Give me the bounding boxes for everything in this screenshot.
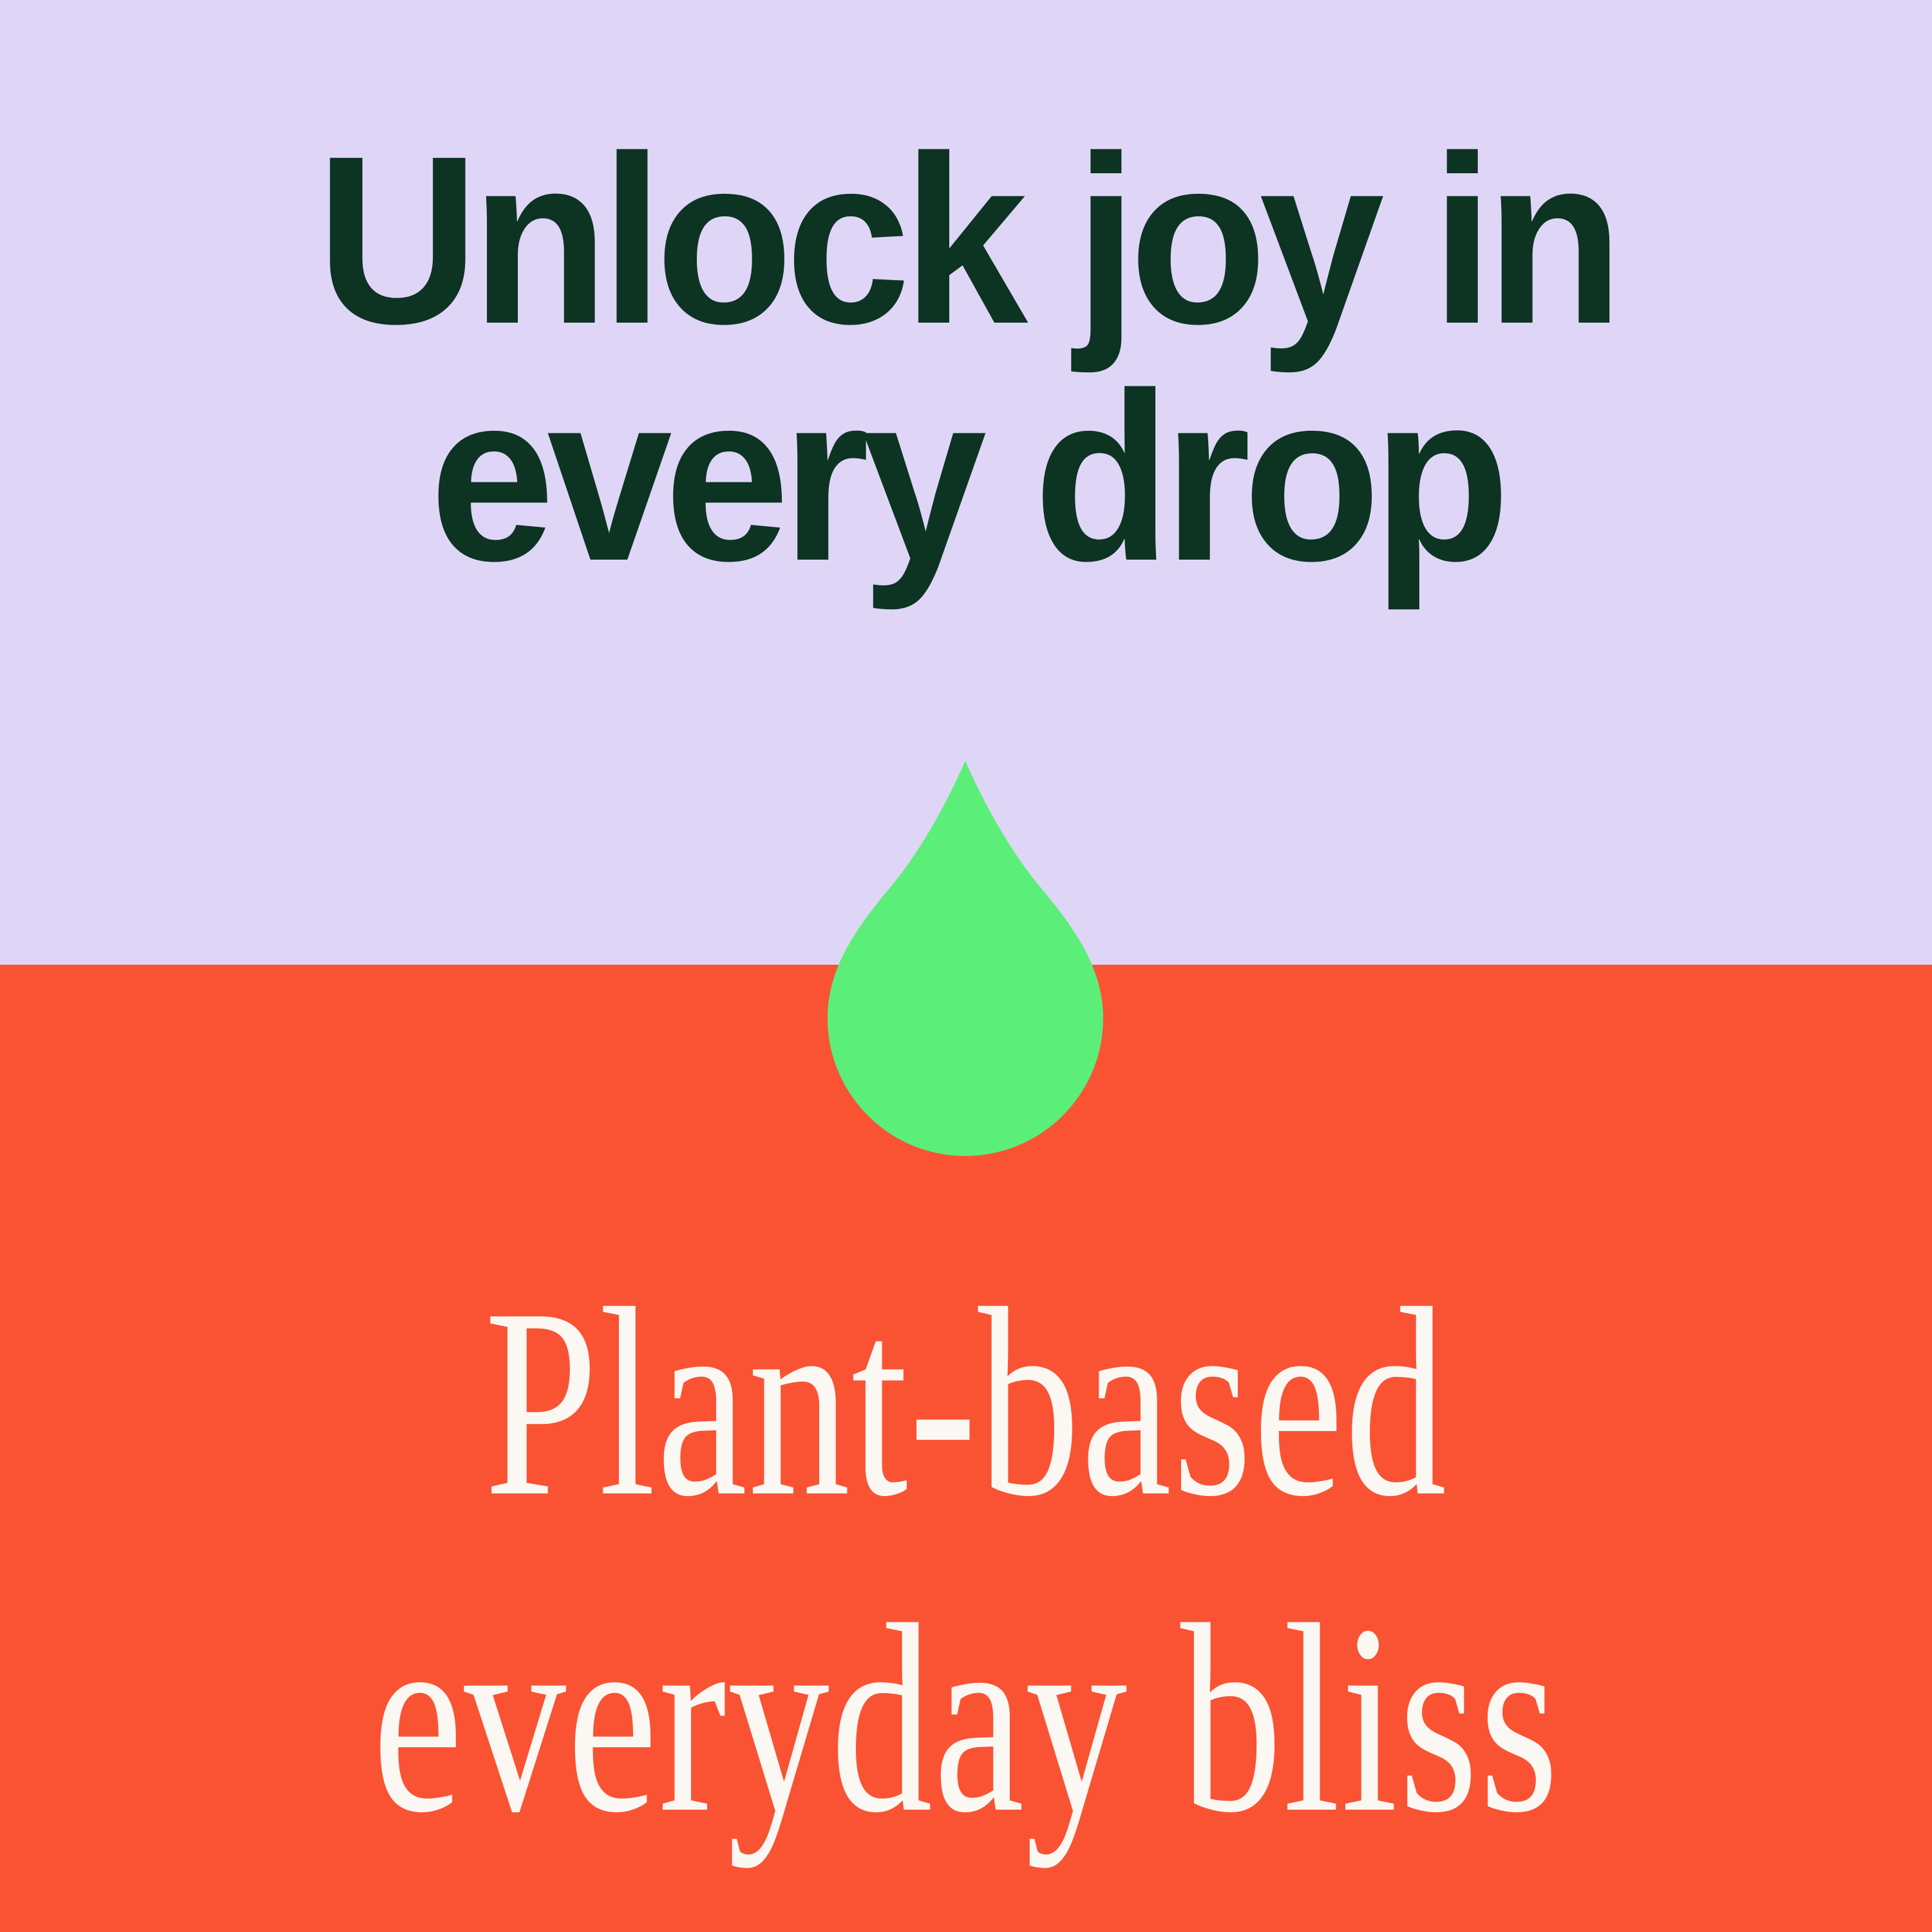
subhead-line-1: Plant-based	[193, 1235, 1739, 1569]
water-drop-icon	[828, 761, 1103, 1156]
headline: Unlock joy in every drop	[0, 121, 1932, 596]
subhead: Plant-based everyday bliss	[0, 1244, 1932, 1877]
poster-canvas: Unlock joy in every drop Plant-based eve…	[0, 0, 1932, 1932]
headline-line-2: every drop	[58, 358, 1874, 595]
headline-line-1: Unlock joy in	[58, 121, 1874, 358]
subhead-line-2: everyday bliss	[193, 1551, 1739, 1886]
